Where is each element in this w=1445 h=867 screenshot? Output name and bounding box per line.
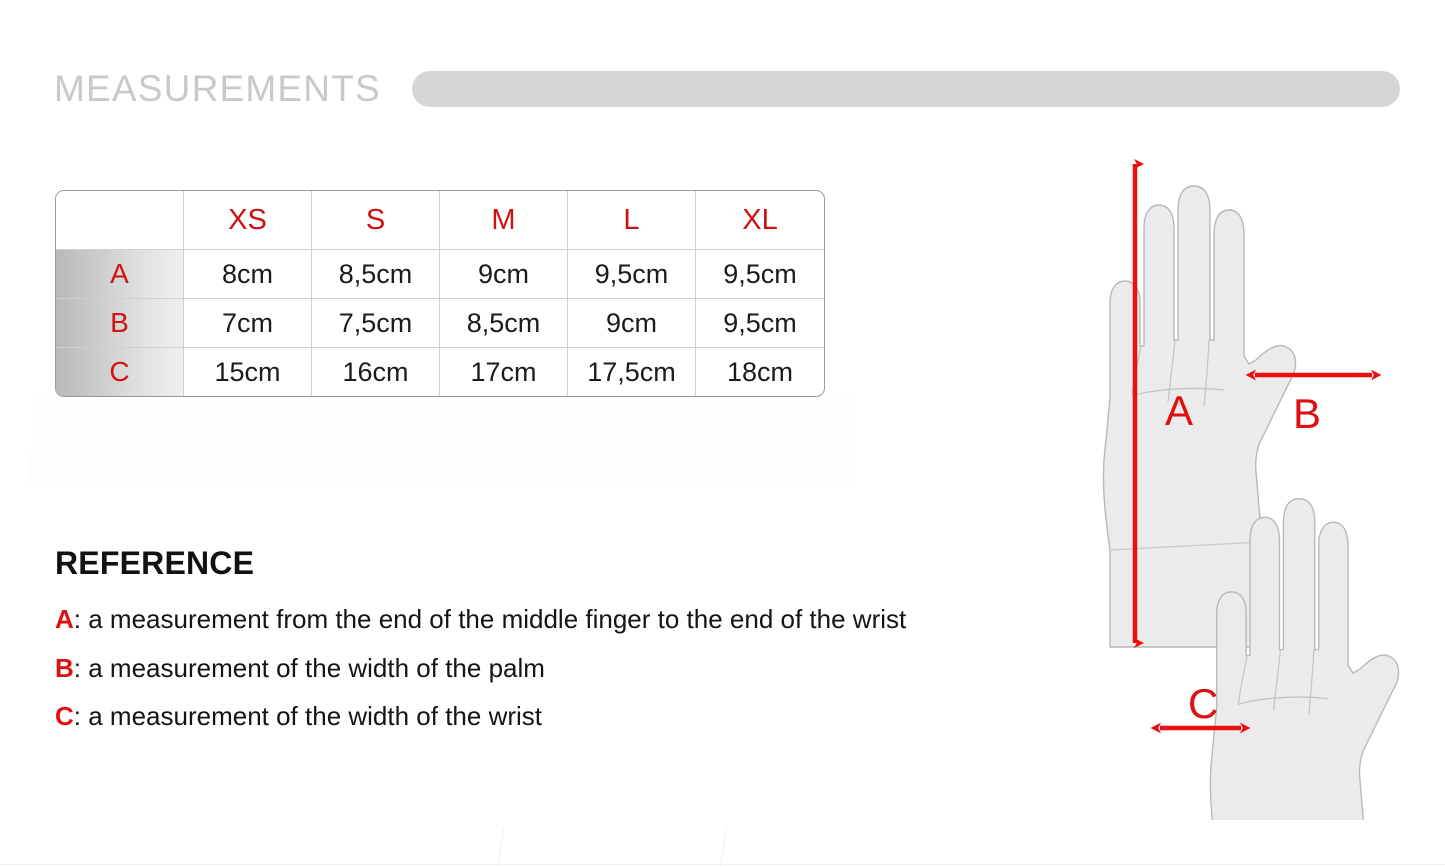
reference-text-c: a measurement of the width of the wrist xyxy=(88,701,542,731)
background-panel-upper xyxy=(34,398,854,454)
size-chart-page: MEASUREMENTS XS S M L XL A 8cm 8,5cm 9cm… xyxy=(0,0,1445,867)
table-header-l: L xyxy=(568,191,696,250)
cell-c-s: 16cm xyxy=(312,348,440,396)
reference-text-a: a measurement from the end of the middle… xyxy=(88,604,906,634)
cell-a-xl: 9,5cm xyxy=(696,250,824,299)
cell-a-xs: 8cm xyxy=(184,250,312,299)
row-label-b: B xyxy=(56,299,184,348)
measure-label-c: C xyxy=(1188,680,1218,727)
page-title: MEASUREMENTS xyxy=(54,68,381,110)
table-header-xl: XL xyxy=(696,191,824,250)
bottom-tick-mark xyxy=(497,827,504,867)
table-row: A 8cm 8,5cm 9cm 9,5cm 9,5cm xyxy=(56,250,824,299)
bottom-tick-mark xyxy=(720,827,727,867)
measurements-table: XS S M L XL A 8cm 8,5cm 9cm 9,5cm 9,5cm … xyxy=(55,190,825,397)
reference-sep-a: : xyxy=(74,604,88,634)
measure-label-a: A xyxy=(1165,387,1193,434)
background-panel-lower xyxy=(28,454,854,484)
table-row: C 15cm 16cm 17cm 17,5cm 18cm xyxy=(56,348,824,396)
reference-key-a: A xyxy=(55,604,74,634)
table-header-xs: XS xyxy=(184,191,312,250)
bottom-rule xyxy=(0,864,1445,865)
cell-b-xs: 7cm xyxy=(184,299,312,348)
cell-b-s: 7,5cm xyxy=(312,299,440,348)
cell-b-xl: 9,5cm xyxy=(696,299,824,348)
measure-label-b: B xyxy=(1293,390,1321,437)
reference-heading: REFERENCE xyxy=(55,545,254,582)
cell-a-m: 9cm xyxy=(440,250,568,299)
reference-item-c: C: a measurement of the width of the wri… xyxy=(55,701,542,732)
table-corner-cell xyxy=(56,191,184,250)
row-label-a: A xyxy=(56,250,184,299)
cell-c-l: 17,5cm xyxy=(568,348,696,396)
reference-key-c: C xyxy=(55,701,74,731)
cell-c-m: 17cm xyxy=(440,348,568,396)
table-header-row: XS S M L XL xyxy=(56,191,824,250)
reference-sep-b: : xyxy=(74,653,88,683)
table-header-m: M xyxy=(440,191,568,250)
cell-c-xs: 15cm xyxy=(184,348,312,396)
header-accent-bar xyxy=(412,71,1400,107)
reference-item-a: A: a measurement from the end of the mid… xyxy=(55,604,906,635)
cell-c-xl: 18cm xyxy=(696,348,824,396)
reference-key-b: B xyxy=(55,653,74,683)
row-label-c: C xyxy=(56,348,184,396)
cell-a-s: 8,5cm xyxy=(312,250,440,299)
table-row: B 7cm 7,5cm 8,5cm 9cm 9,5cm xyxy=(56,299,824,348)
reference-text-b: a measurement of the width of the palm xyxy=(88,653,545,683)
hand-measurement-diagram: A B C xyxy=(960,140,1445,820)
cell-b-l: 9cm xyxy=(568,299,696,348)
cell-b-m: 8,5cm xyxy=(440,299,568,348)
reference-item-b: B: a measurement of the width of the pal… xyxy=(55,653,545,684)
table-header-s: S xyxy=(312,191,440,250)
cell-a-l: 9,5cm xyxy=(568,250,696,299)
reference-sep-c: : xyxy=(74,701,88,731)
